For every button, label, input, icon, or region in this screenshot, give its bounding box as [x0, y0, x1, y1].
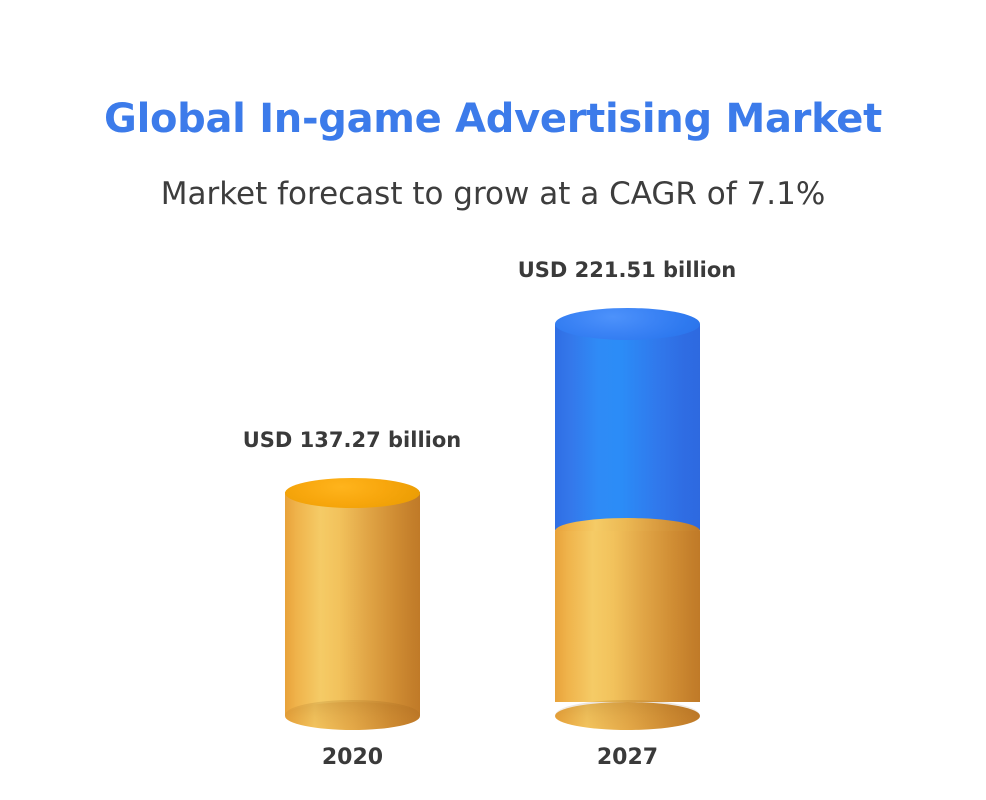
bar-segment-2020-base	[285, 492, 420, 716]
category-label-2020: 2020	[285, 745, 420, 770]
cylinder-bottom-cap-2027	[555, 702, 700, 730]
chart-title: Global In-game Advertising Market	[0, 96, 986, 142]
bar-group-2020: USD 137.27 billion 2020	[285, 240, 420, 800]
bar-segment-2027-growth	[555, 324, 700, 530]
bar-group-2027: USD 221.51 billion 2027	[555, 240, 700, 800]
category-label-2027: 2027	[555, 745, 700, 770]
cylinder-2027[interactable]	[555, 308, 700, 730]
cylinder-top-cap-2027	[555, 308, 700, 340]
cylinder-bottom-cap-2020	[285, 702, 420, 730]
cylinder-top-cap-2020	[285, 478, 420, 508]
cylinder-2020[interactable]	[285, 478, 420, 730]
bar-segment-2027-base	[555, 531, 700, 702]
chart-subtitle: Market forecast to grow at a CAGR of 7.1…	[0, 176, 986, 212]
plot-area: USD 137.27 billion 2020 USD 221.51 billi…	[0, 240, 986, 800]
chart-canvas: Global In-game Advertising Market Market…	[0, 0, 986, 800]
value-label-2020: USD 137.27 billion	[172, 428, 532, 452]
value-label-2027: USD 221.51 billion	[447, 258, 807, 282]
